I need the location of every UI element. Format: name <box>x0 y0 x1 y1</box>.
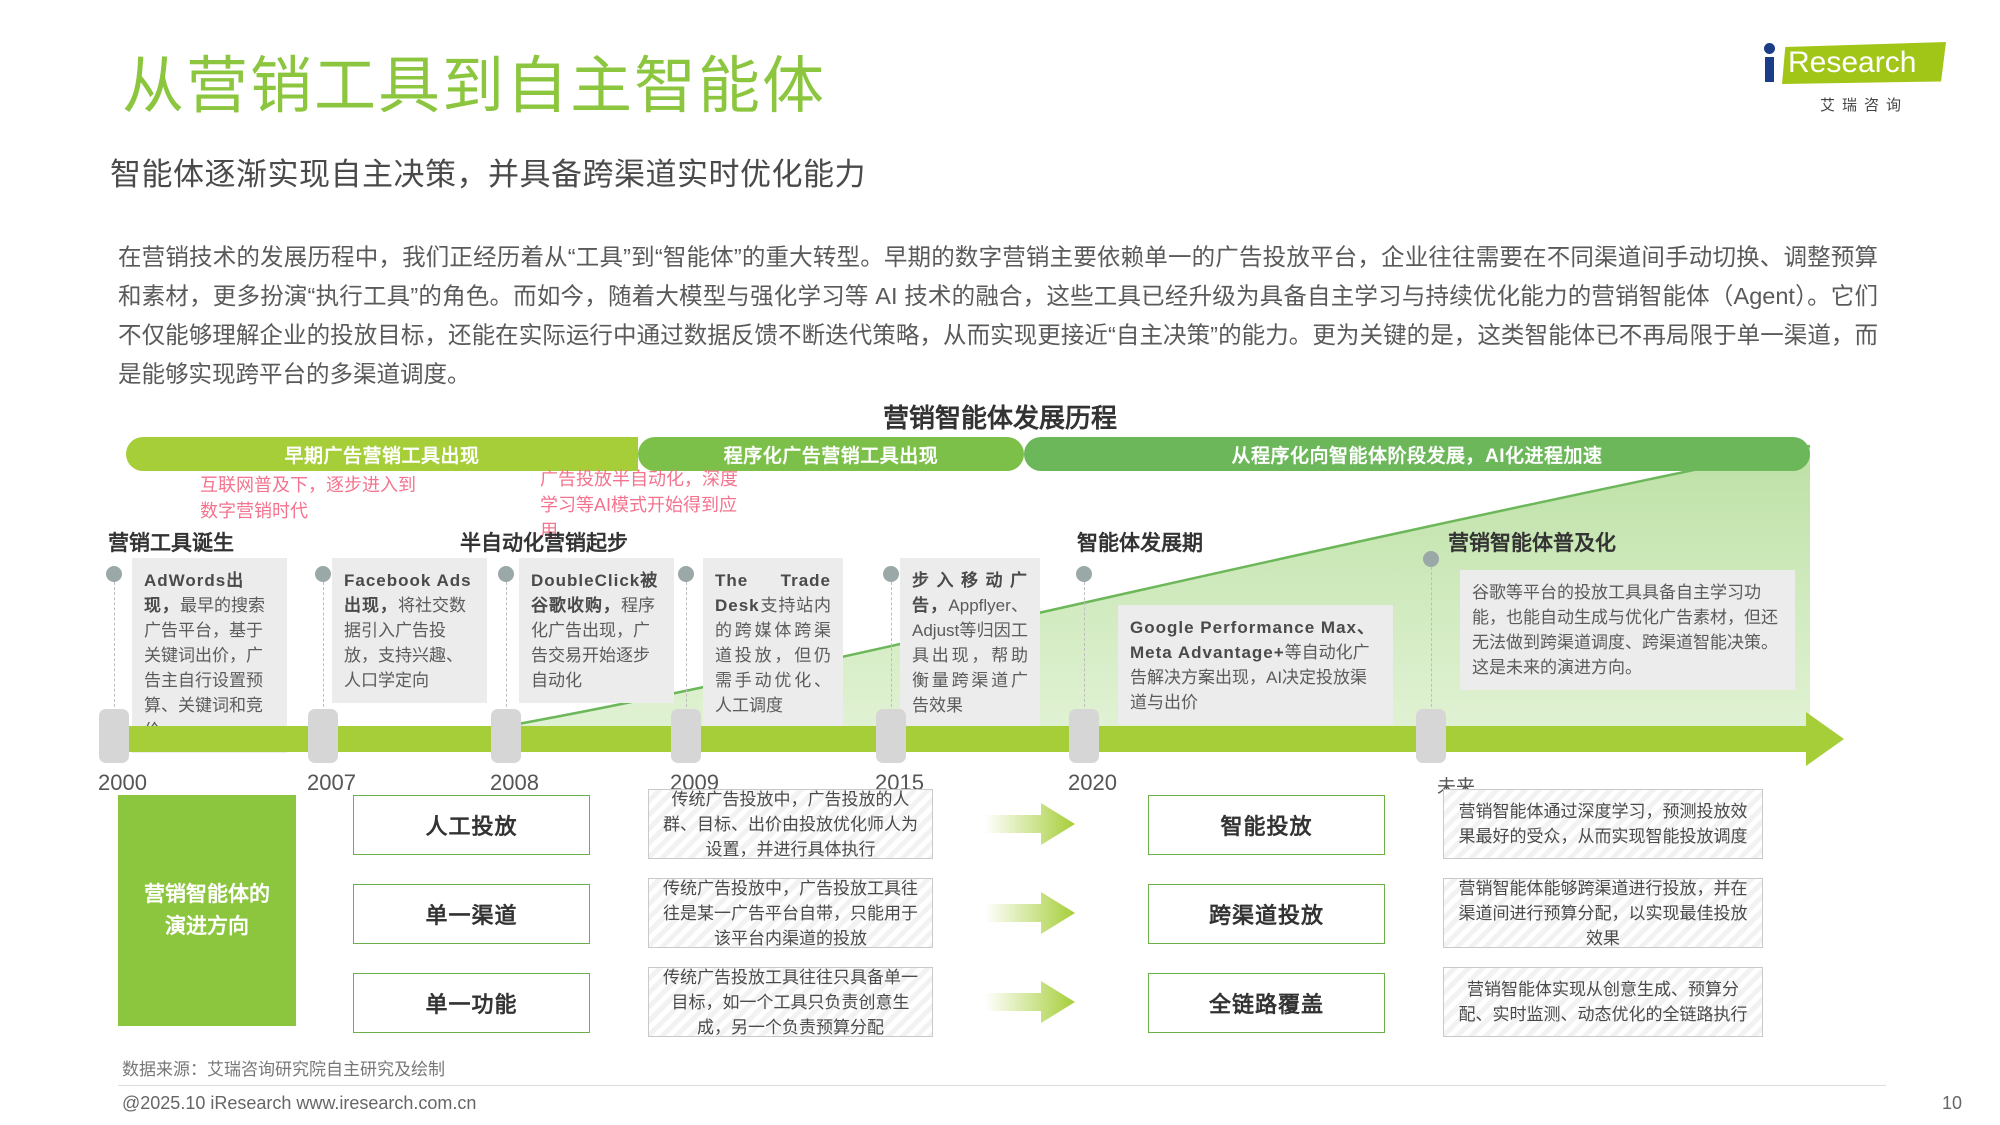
after-pill-3: 全链路覆盖 <box>1148 973 1385 1033</box>
after-note-2: 营销智能体能够跨渠道进行投放，并在渠道间进行预算分配，以实现最佳投放效果 <box>1443 878 1763 948</box>
timeline-tick-2007 <box>308 709 338 763</box>
connector-2015 <box>891 582 892 712</box>
phase-banner-row: 早期广告营销工具出现 程序化广告营销工具出现 从程序化向智能体阶段发展，AI化进… <box>126 437 1810 471</box>
milestone-dot-2007 <box>315 566 331 582</box>
milestone-dot-2008 <box>498 566 514 582</box>
copyright-text: @2025.10 iResearch www.iresearch.com.cn <box>122 1093 476 1114</box>
connector-2007 <box>323 582 324 712</box>
source-note: 数据来源：艾瑞咨询研究院自主研究及绘制 <box>122 1055 445 1080</box>
transition-arrow-icon-3 <box>985 979 1075 1025</box>
stage-heading-2: 半自动化营销起步 <box>460 527 628 557</box>
milestone-card-2015: 步入移动广告，Appflyer、Adjust等归因工具出现，帮助衡量跨渠道广告效… <box>900 558 1040 728</box>
connector-2008 <box>506 582 507 712</box>
milestone-dot-2000 <box>106 566 122 582</box>
page-title: 从营销工具到自主智能体 <box>122 52 826 122</box>
intro-paragraph: 在营销技术的发展历程中，我们正经历着从“工具”到“智能体”的重大转型。早期的数字… <box>118 238 1878 394</box>
milestone-card-2007: Facebook Ads出现，将社交数据引入广告投放，支持兴趣、人口学定向 <box>332 558 487 703</box>
connector-2020 <box>1084 582 1085 712</box>
timeline-tick-2000 <box>99 709 129 763</box>
timeline-tick-2015 <box>876 709 906 763</box>
slide-page: 从营销工具到自主智能体 智能体逐渐实现自主决策，并具备跨渠道实时优化能力 Res… <box>0 0 2000 1125</box>
before-pill-3: 单一功能 <box>353 973 590 1033</box>
milestone-body-future: 谷歌等平台的投放工具具备自主学习功能，也能自动生成与优化广告素材，但还无法做到跨… <box>1472 583 1778 677</box>
transition-arrow-icon-2 <box>985 890 1075 936</box>
phase-banner-3: 从程序化向智能体阶段发展，AI化进程加速 <box>1024 437 1810 471</box>
stage-heading-4: 营销智能体普及化 <box>1448 527 1616 557</box>
logo-i-stem-icon <box>1765 57 1774 82</box>
timeline-year-2007: 2007 <box>307 770 356 796</box>
milestone-card-2020: Google Performance Max、Meta Advantage+等自… <box>1118 605 1393 725</box>
milestone-dot-2020 <box>1076 566 1092 582</box>
timeline-year-2000: 2000 <box>98 770 147 796</box>
page-subtitle: 智能体逐渐实现自主决策，并具备跨渠道实时优化能力 <box>110 156 866 194</box>
before-note-3: 传统广告投放工具往往只具备单一目标，如一个工具只负责创意生成，另一个负责预算分配 <box>648 967 933 1037</box>
before-pill-1: 人工投放 <box>353 795 590 855</box>
timeline-tick-2009 <box>671 709 701 763</box>
chart-title: 营销智能体发展历程 <box>0 398 2000 435</box>
logo-chinese-name: 艾瑞咨询 <box>1758 94 1948 115</box>
timeline-year-2008: 2008 <box>490 770 539 796</box>
iresearch-logo: Research 艾瑞咨询 <box>1758 40 1948 115</box>
milestone-card-2008: DoubleClick被谷歌收购，程序化广告出现，广告交易开始逐步自动化 <box>519 558 674 703</box>
timeline-tick-future <box>1416 709 1446 763</box>
logo-i-dot-icon <box>1764 43 1775 54</box>
evolution-direction-label: 营销智能体的演进方向 <box>144 879 270 943</box>
connector-2009 <box>686 582 687 712</box>
after-pill-2: 跨渠道投放 <box>1148 884 1385 944</box>
connector-2000 <box>114 582 115 712</box>
after-note-1: 营销智能体通过深度学习，预测投放效果最好的受众，从而实现智能投放调度 <box>1443 789 1763 859</box>
connector-future <box>1431 567 1432 712</box>
footer-divider <box>118 1085 1886 1086</box>
before-pill-2: 单一渠道 <box>353 884 590 944</box>
timeline-year-2020: 2020 <box>1068 770 1117 796</box>
logo-badge: Research <box>1758 40 1948 86</box>
milestone-dot-2015 <box>883 566 899 582</box>
stage-heading-3: 智能体发展期 <box>1077 527 1203 557</box>
timeline-tick-2008 <box>491 709 521 763</box>
milestone-body-2000: 最早的搜索广告平台，基于关键词出价，广告主自行设置预算、关键词和竞价 <box>144 596 265 740</box>
before-note-1: 传统广告投放中，广告投放的人群、目标、出价由投放优化师人为设置，并进行具体执行 <box>648 789 933 859</box>
transition-arrow-icon-1 <box>985 801 1075 847</box>
after-pill-1: 智能投放 <box>1148 795 1385 855</box>
milestone-dot-future <box>1423 551 1439 567</box>
page-number: 10 <box>1942 1093 1962 1114</box>
timeline-tick-2020 <box>1069 709 1099 763</box>
milestone-dot-2009 <box>678 566 694 582</box>
logo-wordmark: Research <box>1788 46 1943 80</box>
timeline-bar <box>126 726 1810 752</box>
milestone-card-2000: AdWords出现，最早的搜索广告平台，基于关键词出价，广告主自行设置预算、关键… <box>132 558 287 753</box>
before-note-2: 传统广告投放中，广告投放工具往往是某一广告平台自带，只能用于该平台内渠道的投放 <box>648 878 933 948</box>
stage-heading-1: 营销工具诞生 <box>108 527 234 557</box>
timeline-arrow-head-icon <box>1806 712 1844 766</box>
milestone-card-2009: The Trade Desk支持站内的跨媒体跨渠道投放，但仍需手动优化、人工调度 <box>703 558 843 728</box>
after-note-3: 营销智能体实现从创意生成、预算分配、实时监测、动态优化的全链路执行 <box>1443 967 1763 1037</box>
milestone-card-future: 谷歌等平台的投放工具具备自主学习功能，也能自动生成与优化广告素材，但还无法做到跨… <box>1460 570 1795 690</box>
evolution-direction-block: 营销智能体的演进方向 <box>118 795 296 1026</box>
phase-note-1: 互联网普及下，逐步进入到数字营销时代 <box>200 472 420 524</box>
